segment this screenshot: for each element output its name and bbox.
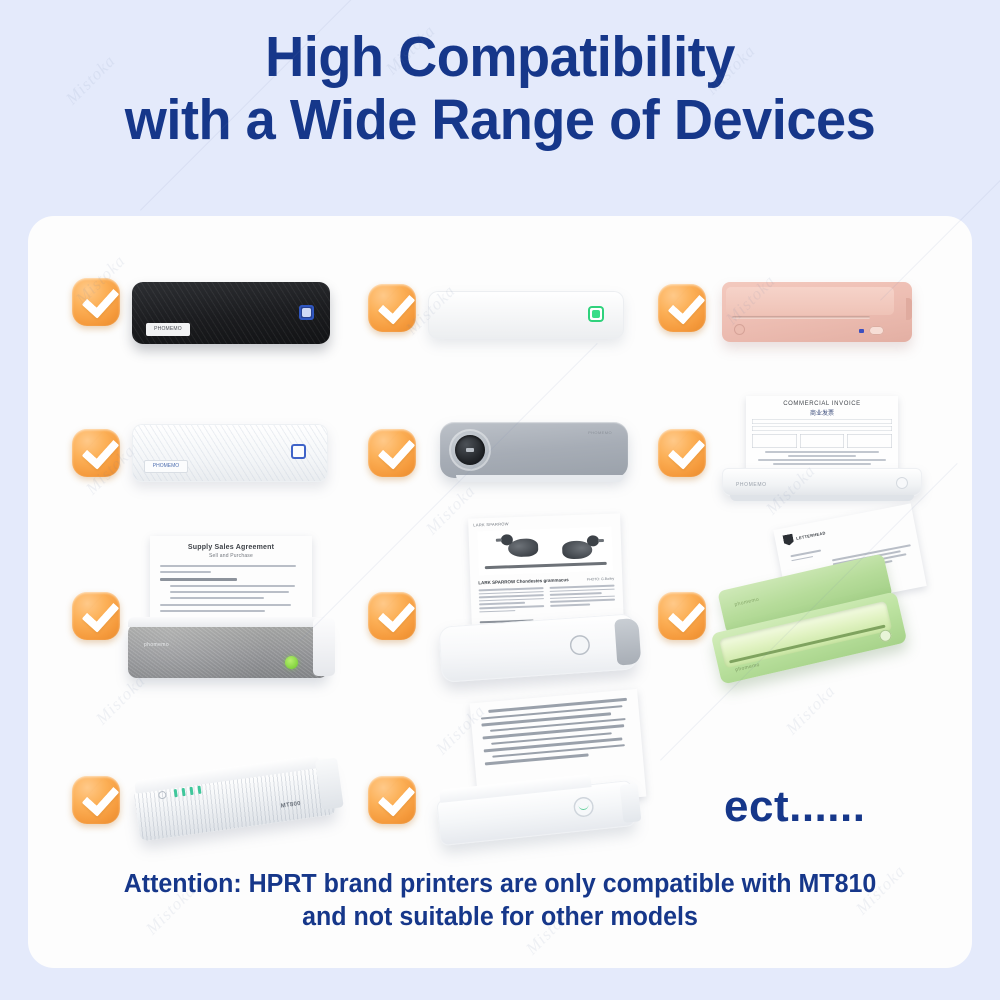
checkmark-badge-icon <box>368 776 416 824</box>
invoice-field-row <box>752 426 892 431</box>
doc-text-line <box>479 610 515 613</box>
device-grey-felt-printer-group: Supply Sales Agreement Sell and Purchase <box>128 536 338 666</box>
doc-text-line <box>550 585 615 589</box>
device-brand-label: PHOMEMO <box>144 460 188 473</box>
paper-slot <box>732 316 870 319</box>
invoice-field-row <box>752 419 892 424</box>
doc-text-line <box>170 585 295 587</box>
printer-body: phomemo <box>128 624 328 678</box>
attention-note: Attention: HPRT brand printers are only … <box>96 868 904 934</box>
power-square-button[interactable] <box>588 306 604 322</box>
doc-text-line <box>550 603 590 606</box>
power-round-button[interactable] <box>285 656 298 669</box>
invoice-cell <box>847 434 892 448</box>
doc-text-line <box>479 602 525 605</box>
checkmark-badge-icon <box>658 429 706 477</box>
side-cap <box>313 618 335 676</box>
checkmark-badge-icon <box>658 592 706 640</box>
device-white-cn-printer-group <box>424 696 654 846</box>
invoice-text-line <box>758 459 887 461</box>
bird-right <box>562 540 593 559</box>
device-brand-label: MT800 <box>280 801 301 810</box>
checkmark-badge-icon <box>72 278 120 326</box>
checkmark-badge-icon <box>72 592 120 640</box>
side-cap <box>315 757 344 810</box>
doc-text-line <box>479 587 544 591</box>
device-pink-a4-printer <box>722 282 912 342</box>
power-round-button[interactable] <box>158 791 167 800</box>
invoice-grid <box>752 434 892 448</box>
bluetooth-square-button[interactable] <box>299 305 314 320</box>
printer-body <box>438 613 637 683</box>
doc-text-line <box>479 605 544 609</box>
contract-subtitle: Sell and Purchase <box>160 553 302 559</box>
invoice-cell <box>752 434 797 448</box>
printer-lid <box>726 287 894 315</box>
branch-element <box>485 562 607 569</box>
invoice-text-line <box>788 455 855 457</box>
page-title: High Compatibility with a Wide Range of … <box>0 26 1000 152</box>
guide-running-head: LARK SPARROW <box>473 518 615 528</box>
title-line-1: High Compatibility <box>25 26 975 89</box>
device-white-textured-printer: PHOMEMO <box>132 424 328 482</box>
compatibility-card: PHOMEMO PHOMEMO PHOMEM <box>28 216 972 968</box>
device-brand-label: PHOMEMO <box>588 430 612 435</box>
lens-ring <box>449 429 491 471</box>
printer-lid <box>128 617 328 627</box>
invoice-cell <box>800 434 845 448</box>
doc-text-line <box>790 549 821 557</box>
printed-invoice-document: COMMERCIAL INVOICE 商业发票 <box>746 396 898 476</box>
device-brand-label: phomemo <box>144 642 169 648</box>
side-cap <box>614 618 641 666</box>
doc-text-line <box>550 592 602 595</box>
doc-text-line <box>160 565 296 567</box>
checkmark-badge-icon <box>368 284 416 332</box>
side-port <box>906 298 912 320</box>
doc-text-line <box>170 591 289 593</box>
side-cap <box>620 783 642 823</box>
checkmark-badge-icon <box>72 429 120 477</box>
printer-body <box>436 780 636 846</box>
checkmark-badge-icon <box>368 592 416 640</box>
doc-text-line <box>160 610 265 612</box>
invoice-text-line <box>765 451 880 453</box>
feed-oval-button[interactable] <box>869 326 884 335</box>
device-base <box>456 475 624 482</box>
printer-body: PHOMEMO <box>722 468 922 496</box>
bird-illustration <box>478 527 613 576</box>
doc-heading-line <box>160 578 237 581</box>
power-round-button[interactable] <box>734 324 745 335</box>
checkmark-badge-icon <box>72 776 120 824</box>
doc-text-line <box>791 556 813 562</box>
invoice-subtitle: 商业发票 <box>752 408 892 417</box>
device-grey-lens-printer: PHOMEMO <box>440 422 628 478</box>
contract-title: Supply Sales Agreement <box>160 544 302 551</box>
device-invoice-printer: COMMERCIAL INVOICE 商业发票 PHOMEMO <box>722 466 922 496</box>
device-brand-label: phomemo <box>734 597 760 608</box>
bird-left <box>508 538 539 557</box>
printed-contract-document: Supply Sales Agreement Sell and Purchase <box>150 536 312 628</box>
status-led <box>859 329 864 333</box>
invoice-text-line <box>773 463 871 465</box>
letterhead-title: LETTERHEAD <box>796 530 826 541</box>
device-base <box>730 495 914 501</box>
device-black-portable-printer: PHOMEMO <box>132 282 330 344</box>
power-round-button[interactable] <box>573 796 595 818</box>
attention-note-line-2: and not suitable for other models <box>96 901 904 934</box>
attention-note-line-1: Attention: HPRT brand printers are only … <box>96 868 904 901</box>
invoice-title: COMMERCIAL INVOICE <box>752 401 892 407</box>
doc-text-line <box>170 597 264 599</box>
guide-caption: LARK SPARROW Chondestes grammacus <box>478 577 569 585</box>
doc-text-line <box>160 604 291 606</box>
doc-text-line <box>160 571 211 573</box>
power-round-button[interactable] <box>569 634 590 655</box>
guide-credit: PHOTO: G.Bailey <box>587 577 615 582</box>
device-brand-label: PHOMEMO <box>146 323 190 336</box>
title-line-2: with a Wide Range of Devices <box>25 89 975 152</box>
doc-text-line <box>550 588 615 592</box>
device-white-slim-printer <box>428 291 624 339</box>
power-round-button[interactable] <box>896 477 908 489</box>
device-brand-label: PHOMEMO <box>736 482 767 488</box>
checkmark-badge-icon <box>658 284 706 332</box>
bluetooth-square-button[interactable] <box>291 444 306 459</box>
power-round-button[interactable] <box>878 629 892 643</box>
printer-lid <box>134 755 320 794</box>
printer-body: MT800 <box>133 762 336 841</box>
etc-label: ect...... <box>724 782 865 832</box>
checkmark-badge-icon <box>368 429 416 477</box>
device-silver-ribbed-printer-group: MT800 <box>124 756 354 846</box>
letterhead-logo-icon <box>782 534 794 547</box>
doc-text-line <box>479 598 544 602</box>
printed-field-guide-document: LARK SPARROW LARK SPARROW Chondestes gra… <box>468 513 624 630</box>
device-white-photo-printer-group: LARK SPARROW LARK SPARROW Chondestes gra… <box>428 516 643 681</box>
doc-text-line <box>550 599 615 603</box>
device-green-a4-printer-group: LETTERHEAD phomemo <box>714 516 964 686</box>
